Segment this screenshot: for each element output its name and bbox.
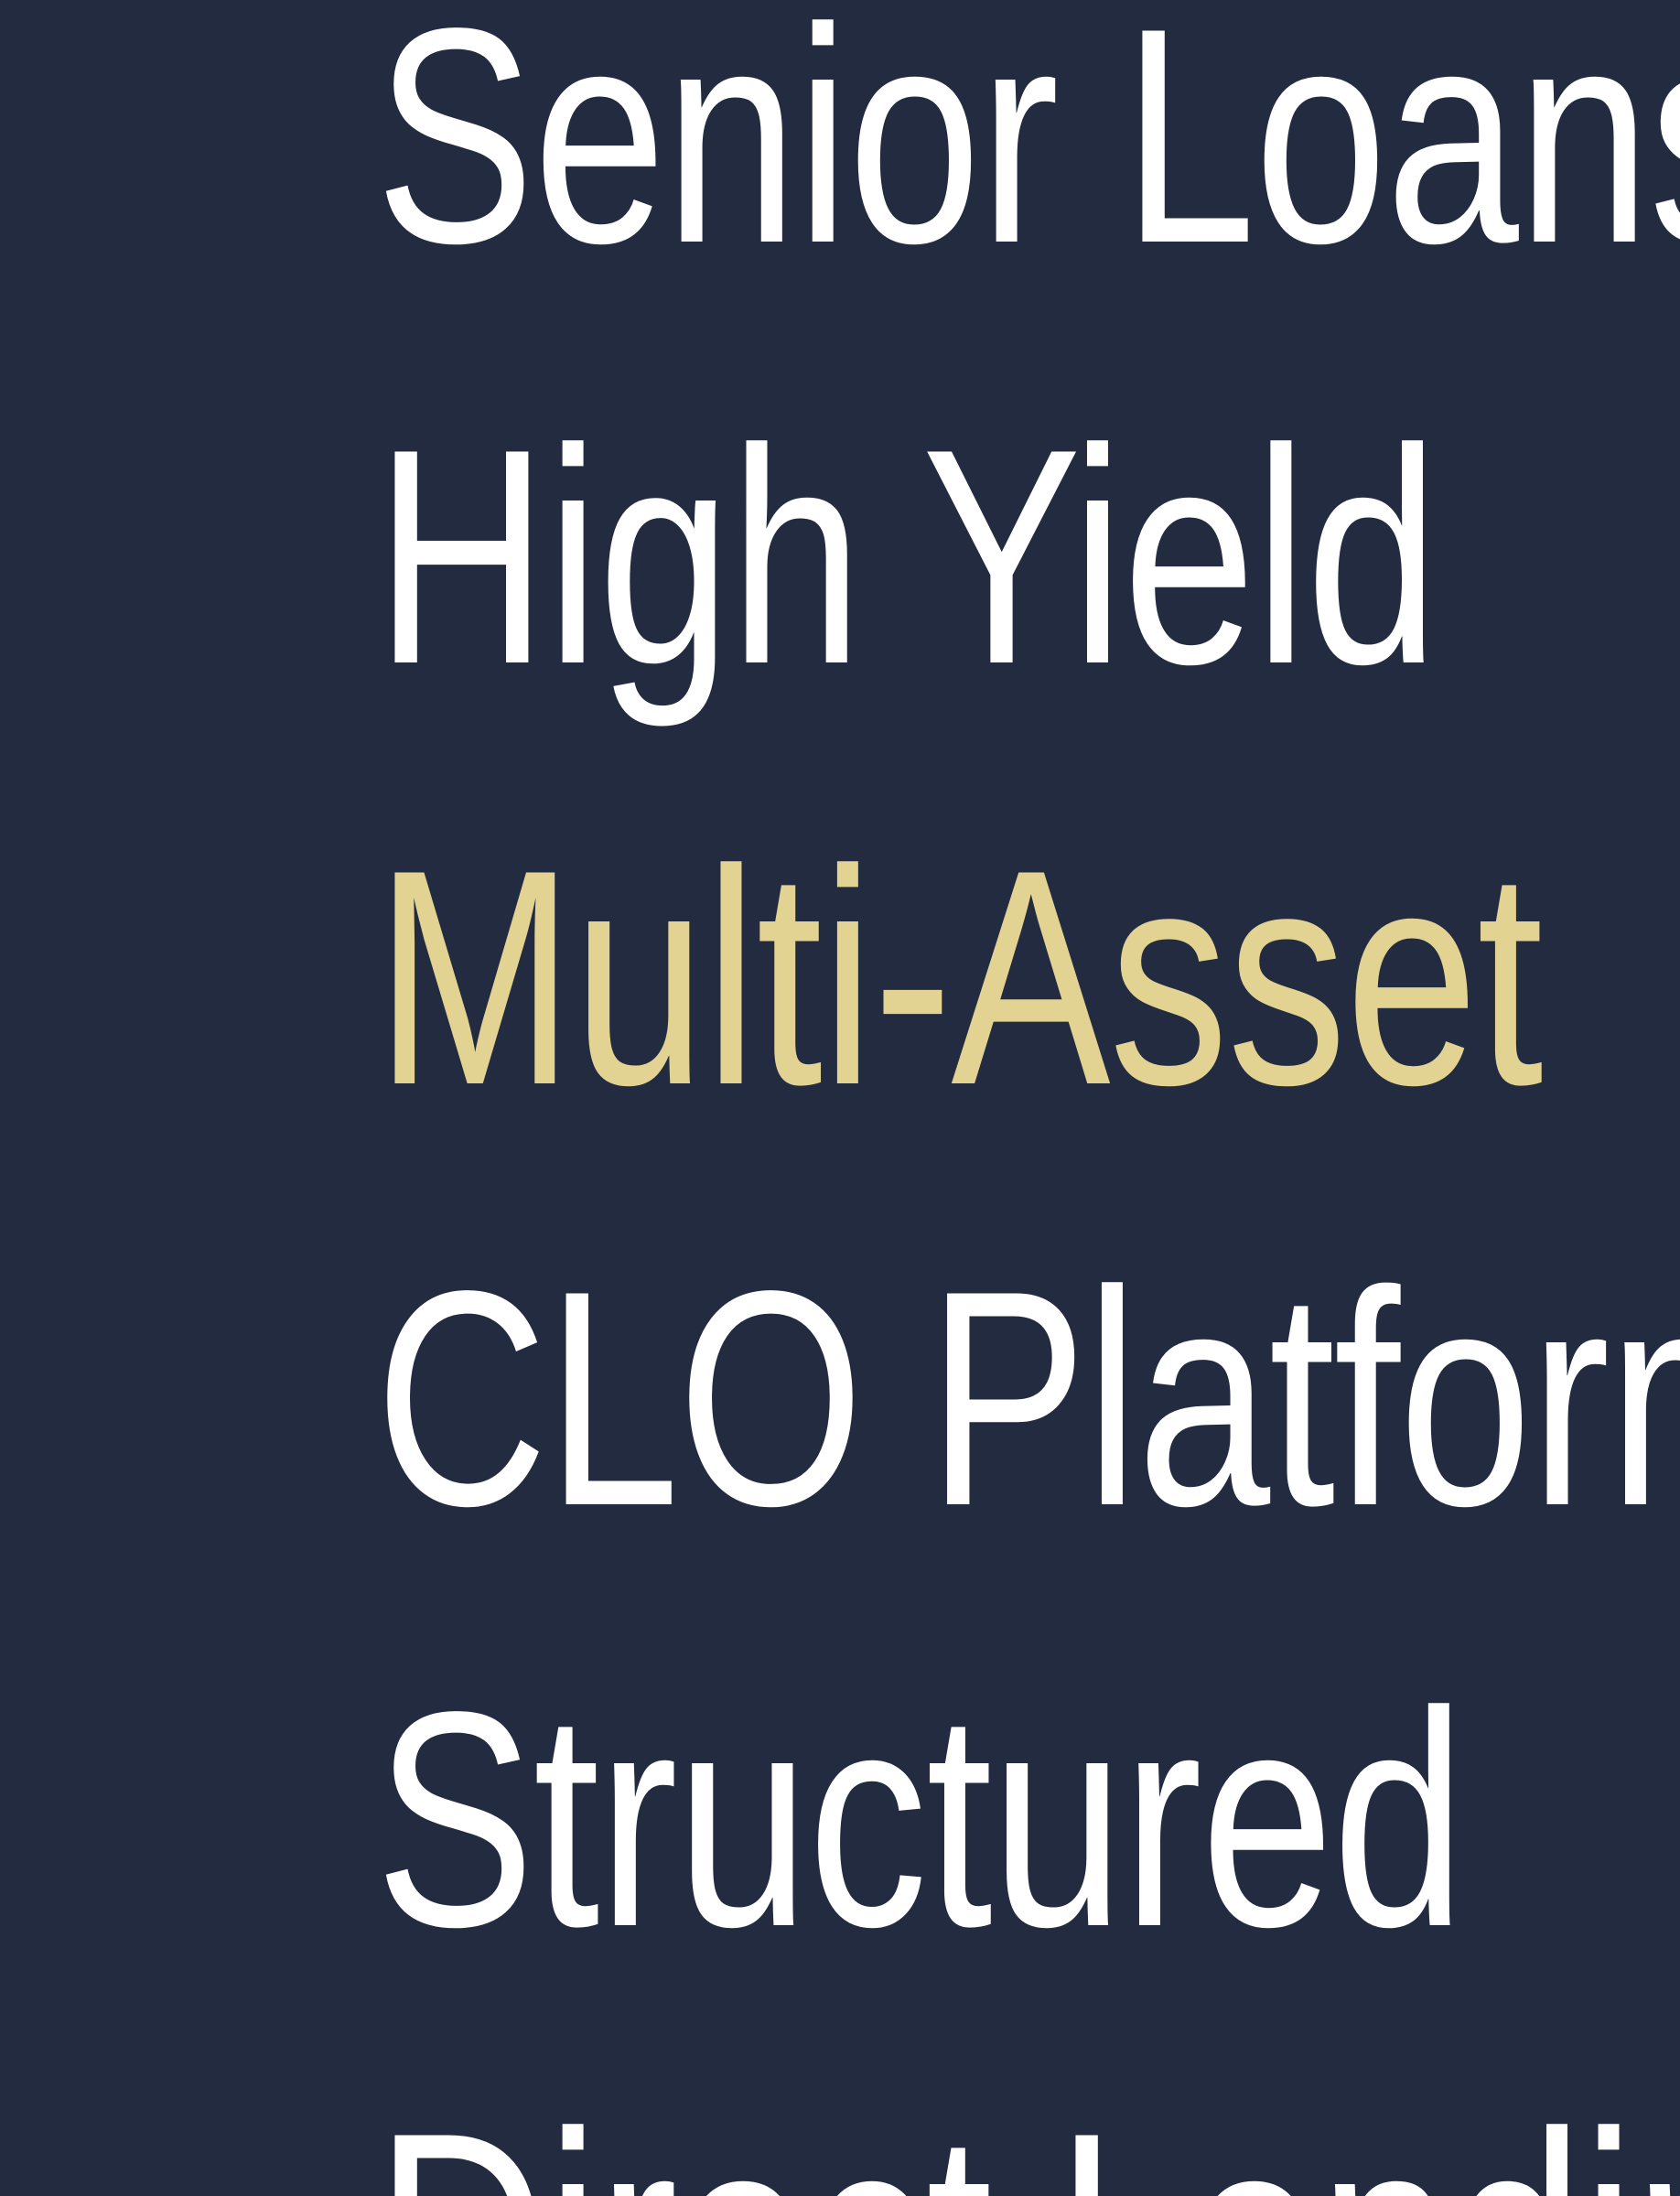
screen-root: Senior Loans High Yield Multi-Asset CLO … (0, 0, 1680, 2196)
strategy-item-direct-lending[interactable]: Direct Lending (375, 2029, 1680, 2196)
strategy-list: Senior Loans High Yield Multi-Asset CLO … (375, 0, 1680, 2196)
strategy-item-senior-loans[interactable]: Senior Loans (375, 0, 1680, 346)
strategy-item-multi-asset[interactable]: Multi-Asset (375, 767, 1680, 1188)
strategy-item-high-yield[interactable]: High Yield (375, 346, 1680, 767)
strategy-item-clo-platform[interactable]: CLO Platform (375, 1188, 1680, 1609)
strategy-item-structured[interactable]: Structured (375, 1609, 1680, 2029)
